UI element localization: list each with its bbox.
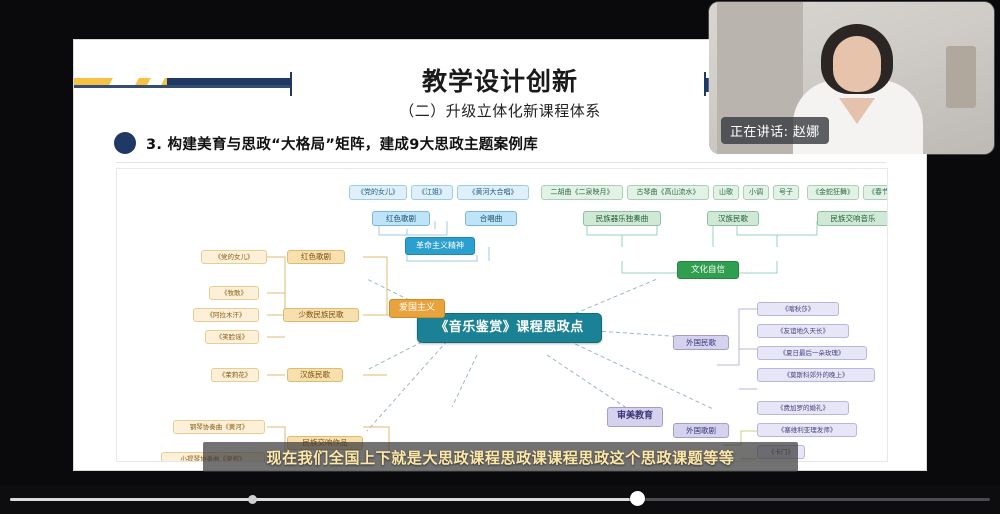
video-wall-panel (946, 46, 976, 108)
divider (116, 162, 886, 163)
mindmap-node[interactable]: 《春节序曲》 (863, 185, 888, 200)
video-player: 教学设计创新 （二）升级立体化新课程体系 3. 构建美育与思政“大格局”矩阵，建… (0, 0, 1000, 514)
mindmap-node[interactable]: 文化自信 (677, 261, 739, 279)
speaker-video-thumbnail[interactable]: 正在讲话: 赵娜 (709, 2, 994, 154)
mindmap-node[interactable]: 二胡曲《二泉映月》 (541, 185, 623, 200)
mindmap-node[interactable]: 爱国主义 (389, 299, 445, 318)
mindmap-node[interactable]: 民族交响音乐 (817, 211, 888, 226)
mindmap-node[interactable]: 《江姐》 (411, 185, 453, 200)
caption-text: 现在我们全国上下就是大思政课程思政课课程思政这个思政课题等等 (266, 447, 734, 468)
mindmap-node[interactable]: 汉族民歌 (287, 368, 343, 382)
mindmap-node[interactable]: 外国民歌 (673, 335, 729, 350)
mindmap-center-node[interactable]: 《音乐鉴赏》课程思政点 (417, 313, 602, 343)
progress-knob[interactable] (630, 491, 645, 506)
mindmap-node[interactable]: 《党的女儿》 (201, 250, 267, 264)
mindmap-node[interactable]: 红色歌剧 (287, 250, 345, 264)
mindmap-node[interactable]: 《夏日最后一朵玫瑰》 (757, 346, 867, 360)
mindmap-node[interactable]: 小调 (743, 185, 769, 200)
progress-track[interactable] (10, 498, 990, 501)
mindmap-node[interactable]: 《金蛇狂舞》 (807, 185, 859, 200)
player-controls[interactable] (0, 486, 1000, 514)
speaking-label: 正在讲话: 赵娜 (721, 117, 829, 144)
mindmap-node[interactable]: 《黄河大合唱》 (457, 185, 529, 200)
mindmap-node[interactable]: 古琴曲《高山流水》 (627, 185, 709, 200)
mindmap-node[interactable]: 号子 (773, 185, 799, 200)
bullet-dot-icon (114, 132, 136, 154)
mindmap-node[interactable]: 《阿拉木汗》 (193, 308, 259, 322)
mindmap-node[interactable]: 外国歌剧 (673, 423, 729, 438)
progress-fill (10, 498, 644, 501)
mindmap-node[interactable]: 山歌 (713, 185, 739, 200)
mindmap-node[interactable]: 《塞维利亚理发师》 (757, 423, 857, 437)
mindmap-node[interactable]: 《喀秋莎》 (757, 302, 839, 316)
chapter-marker-dot[interactable] (248, 495, 257, 504)
mindmap-node[interactable]: 红色歌剧 (372, 211, 430, 226)
mindmap-node[interactable]: 《友谊地久天长》 (757, 324, 849, 338)
mindmap-node[interactable]: 《茉莉花》 (211, 368, 259, 382)
mindmap-node[interactable]: 合唱曲 (465, 211, 517, 226)
mindmap-node[interactable]: 钢琴协奏曲《黄河》 (173, 420, 265, 434)
mindmap-node[interactable]: 《牧歌》 (209, 286, 259, 300)
mindmap-node[interactable]: 《费加罗的婚礼》 (757, 401, 849, 415)
mindmap-node[interactable]: 《莫斯科郊外的晚上》 (757, 368, 875, 382)
subtitle-caption: 现在我们全国上下就是大思政课程思政课课程思政这个思政课题等等 (203, 442, 798, 472)
mindmap-node[interactable]: 少数民族民歌 (283, 308, 359, 322)
mindmap-node[interactable]: 《笑脸谣》 (205, 330, 259, 344)
video-person-face (833, 36, 881, 92)
bullet-text: 3. 构建美育与思政“大格局”矩阵，建成9大思政主题案例库 (146, 133, 538, 154)
mindmap-canvas: 《党的女儿》 《江姐》 《黄河大合唱》 红色歌剧 合唱曲 革命主义精神 二胡曲《… (116, 168, 888, 462)
bullet-row: 3. 构建美育与思政“大格局”矩阵，建成9大思政主题案例库 (114, 132, 538, 154)
mindmap-node[interactable]: 民族器乐独奏曲 (583, 211, 661, 226)
mindmap-node[interactable]: 汉族民歌 (707, 211, 759, 226)
mindmap-node[interactable]: 《党的女儿》 (349, 185, 407, 200)
mindmap-node[interactable]: 革命主义精神 (405, 237, 475, 255)
mindmap-node[interactable]: 审美教育 (607, 407, 663, 427)
